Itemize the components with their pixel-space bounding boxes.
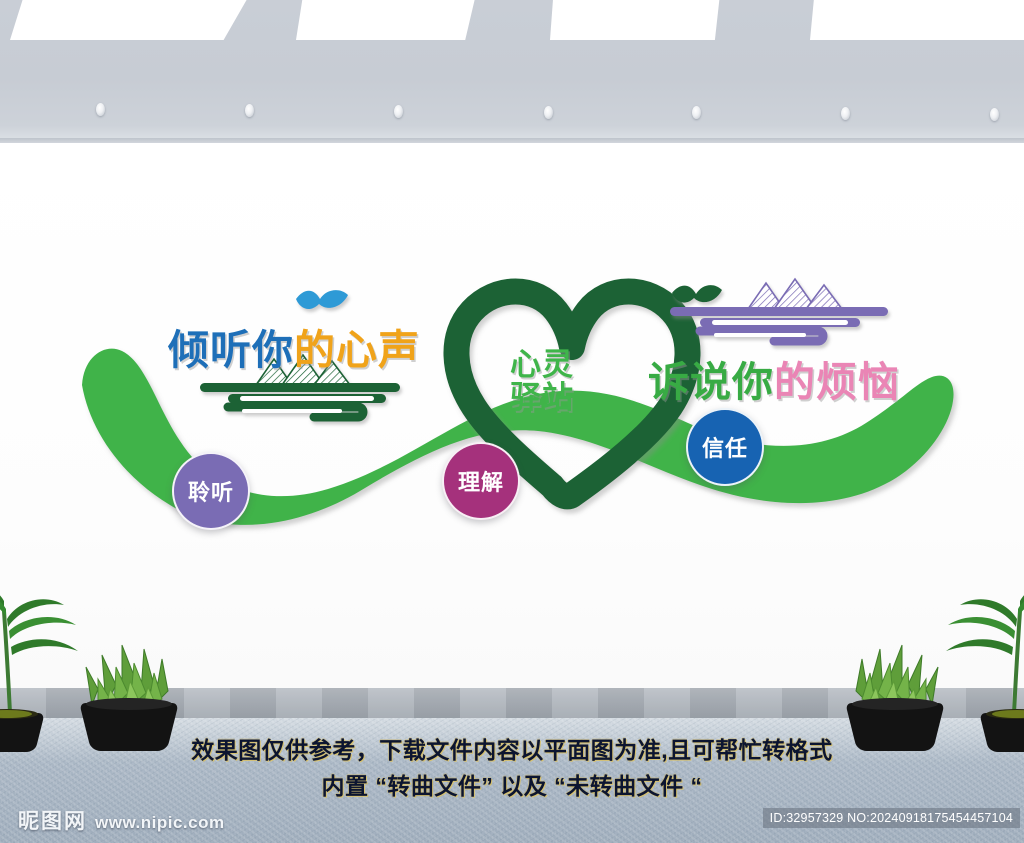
caption-line-1: 效果图仅供参考，下载文件内容以平面图为准,且可帮忙转格式 <box>0 733 1024 769</box>
heart-text-line-1: 心灵 <box>491 348 593 381</box>
ceiling-downlight <box>692 106 701 119</box>
plant-right-group <box>850 563 1024 723</box>
ceiling-downlight <box>245 104 254 117</box>
badge-understand: 理解 <box>442 442 520 520</box>
headline-right: 诉说你的烦恼 <box>648 362 900 403</box>
headline-left: 倾听你的心声 <box>168 330 420 371</box>
headline-right-segment-a: 诉说你 <box>648 359 774 405</box>
ceiling-light-panel <box>296 0 476 40</box>
ceiling-downlight <box>96 103 105 116</box>
image-id-badge: ID:32957329 NO:20240918175454457104 <box>763 808 1020 828</box>
ceiling-downlight <box>544 106 553 119</box>
bird-green-icon <box>672 285 722 303</box>
ceiling-light-panel <box>810 0 1024 40</box>
bird-blue-icon <box>296 290 348 309</box>
ceiling-downlight <box>394 105 403 118</box>
ceiling-light-panel <box>10 0 250 40</box>
caption-block: 效果图仅供参考，下载文件内容以平面图为准,且可帮忙转格式 内置 “转曲文件” 以… <box>0 733 1024 804</box>
ceiling <box>0 0 1024 143</box>
ceiling-light-panel <box>550 0 720 40</box>
caption-line-2: 内置 “转曲文件” 以及 “未转曲文件 “ <box>0 769 1024 805</box>
plant-left-palm <box>0 585 78 713</box>
badge-listen: 聆听 <box>172 452 250 530</box>
ceiling-downlight <box>990 108 999 121</box>
badge-trust: 信任 <box>686 408 764 486</box>
ceiling-downlight <box>841 107 850 120</box>
badge-label: 信任 <box>702 431 748 463</box>
watermark: 昵图网 www.nipic.com <box>18 805 225 835</box>
watermark-logo: 昵图网 <box>18 805 87 835</box>
badge-label: 聆听 <box>188 475 234 507</box>
headline-left-segment-a: 倾听你 <box>168 327 294 373</box>
plant-right-palm <box>946 585 1024 713</box>
badge-label: 理解 <box>458 465 504 497</box>
headline-left-segment-b: 的心声 <box>294 327 420 373</box>
room-scene: 倾听你的心声 诉说你的烦恼 心灵 驿站 聆听 理解 信任 <box>0 0 1024 843</box>
watermark-url: www.nipic.com <box>95 813 225 833</box>
heart-center-text: 心灵 驿站 <box>491 348 593 415</box>
headline-right-segment-b: 的烦恼 <box>774 359 900 405</box>
heart-text-line-2: 驿站 <box>491 381 593 414</box>
plant-left-group <box>0 563 174 723</box>
